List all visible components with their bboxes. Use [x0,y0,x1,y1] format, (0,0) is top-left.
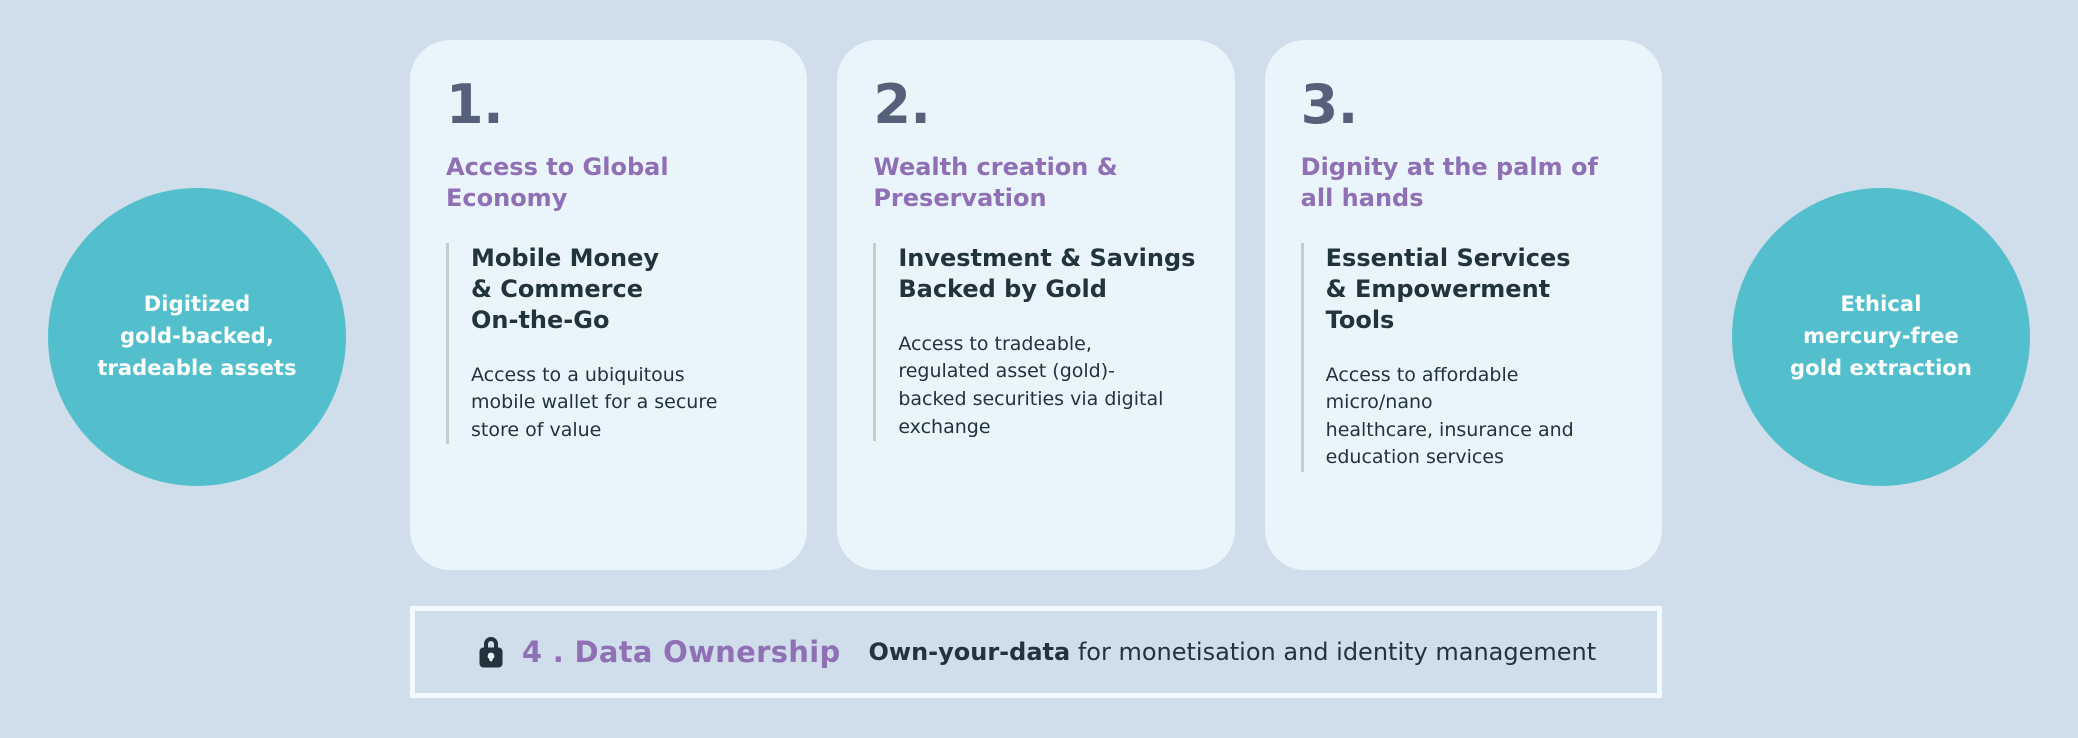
digitized-gold-circle-label: Digitized gold-backed, tradeable assets [97,289,296,385]
digitized-gold-circle: Digitized gold-backed, tradeable assets [48,188,346,486]
value-prop-card-2[interactable]: 2. Wealth creation & Preservation Invest… [837,40,1234,570]
card-number: 3. [1301,78,1626,132]
value-prop-card-1[interactable]: 1. Access to Global Economy Mobile Money… [410,40,807,570]
lock-icon [476,635,506,669]
data-ownership-rest-text: for monetisation and identity management [1070,638,1596,666]
card-detail-block: Essential Services & Empowerment Tools A… [1301,243,1626,471]
card-detail-title: Mobile Money & Commerce On-the-Go [471,243,771,335]
value-prop-card-row: 1. Access to Global Economy Mobile Money… [410,40,1662,570]
card-detail-body: Access to a ubiquitous mobile wallet for… [471,362,771,445]
data-ownership-label: 4 . Data Ownership [522,635,841,669]
card-detail-block: Investment & Savings Backed by Gold Acce… [873,243,1198,441]
card-detail-title: Investment & Savings Backed by Gold [898,243,1198,304]
card-detail-body: Access to affordable micro/nano healthca… [1326,362,1626,472]
data-ownership-bar[interactable]: 4 . Data Ownership Own-your-data for mon… [410,606,1662,698]
card-heading: Dignity at the palm of all hands [1301,152,1626,213]
card-heading: Wealth creation & Preservation [873,152,1198,213]
card-number: 1. [446,78,771,132]
card-heading: Access to Global Economy [446,152,771,213]
value-prop-card-3[interactable]: 3. Dignity at the palm of all hands Esse… [1265,40,1662,570]
card-detail-title: Essential Services & Empowerment Tools [1326,243,1626,335]
card-detail-body: Access to tradeable, regulated asset (go… [898,331,1198,441]
ethical-extraction-circle-label: Ethical mercury-free gold extraction [1790,289,1972,385]
data-ownership-bold-text: Own-your-data [869,638,1071,666]
card-detail-block: Mobile Money & Commerce On-the-Go Access… [446,243,771,444]
data-ownership-description: Own-your-data for monetisation and ident… [869,638,1597,666]
ethical-extraction-circle: Ethical mercury-free gold extraction [1732,188,2030,486]
card-number: 2. [873,78,1198,132]
